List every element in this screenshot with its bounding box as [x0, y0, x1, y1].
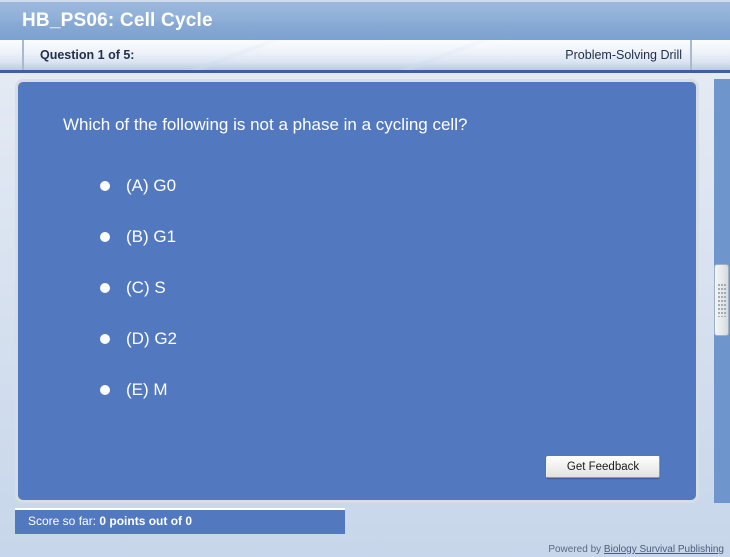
answer-option-label: (E) M	[126, 380, 168, 400]
publisher-link[interactable]: Biology Survival Publishing	[604, 544, 724, 555]
tab-bar: Question 1 of 5: Problem-Solving Drill	[0, 40, 730, 73]
answer-option-d[interactable]: (D) G2	[100, 313, 620, 364]
radio-bullet-icon[interactable]	[100, 334, 110, 344]
tab-slant-decoration-right	[400, 40, 490, 70]
title-bar: HB_PS06: Cell Cycle	[0, 0, 730, 40]
answer-option-b[interactable]: (B) G1	[100, 211, 620, 262]
radio-bullet-icon[interactable]	[100, 232, 110, 242]
page-title: HB_PS06: Cell Cycle	[22, 10, 213, 32]
tab-question-counter: Question 1 of 5:	[26, 40, 134, 70]
answer-option-label: (A) G0	[126, 176, 176, 196]
answer-option-label: (B) G1	[126, 227, 176, 247]
answer-option-a[interactable]: (A) G0	[100, 160, 620, 211]
scrollbar-grip-icon	[717, 283, 726, 317]
answer-options-list: (A) G0 (B) G1 (C) S (D) G2 (E) M	[100, 160, 620, 415]
tab-divider-right	[690, 40, 692, 70]
tab-slant-decoration-left	[190, 40, 280, 70]
answer-option-c[interactable]: (C) S	[100, 262, 620, 313]
score-value: 0 points out of 0	[99, 514, 192, 528]
radio-bullet-icon[interactable]	[100, 283, 110, 293]
question-panel: Which of the following is not a phase in…	[15, 79, 699, 503]
vertical-scrollbar-track[interactable]	[714, 79, 730, 503]
score-label: Score so far:	[28, 514, 96, 528]
radio-bullet-icon[interactable]	[100, 385, 110, 395]
radio-bullet-icon[interactable]	[100, 181, 110, 191]
answer-option-label: (C) S	[126, 278, 166, 298]
tab-drill-mode: Problem-Solving Drill	[565, 40, 682, 70]
score-bar: Score so far: 0 points out of 0	[15, 508, 345, 534]
answer-option-e[interactable]: (E) M	[100, 364, 620, 415]
question-prompt: Which of the following is not a phase in…	[63, 115, 467, 135]
tab-divider-left	[22, 40, 24, 70]
get-feedback-button[interactable]: Get Feedback	[546, 456, 660, 478]
answer-option-label: (D) G2	[126, 329, 177, 349]
vertical-scrollbar-thumb[interactable]	[714, 264, 729, 336]
footer-powered-by-label: Powered by	[548, 544, 601, 555]
score-text: Score so far: 0 points out of 0	[28, 514, 192, 528]
footer-attribution: Powered by Biology Survival Publishing	[548, 544, 724, 555]
